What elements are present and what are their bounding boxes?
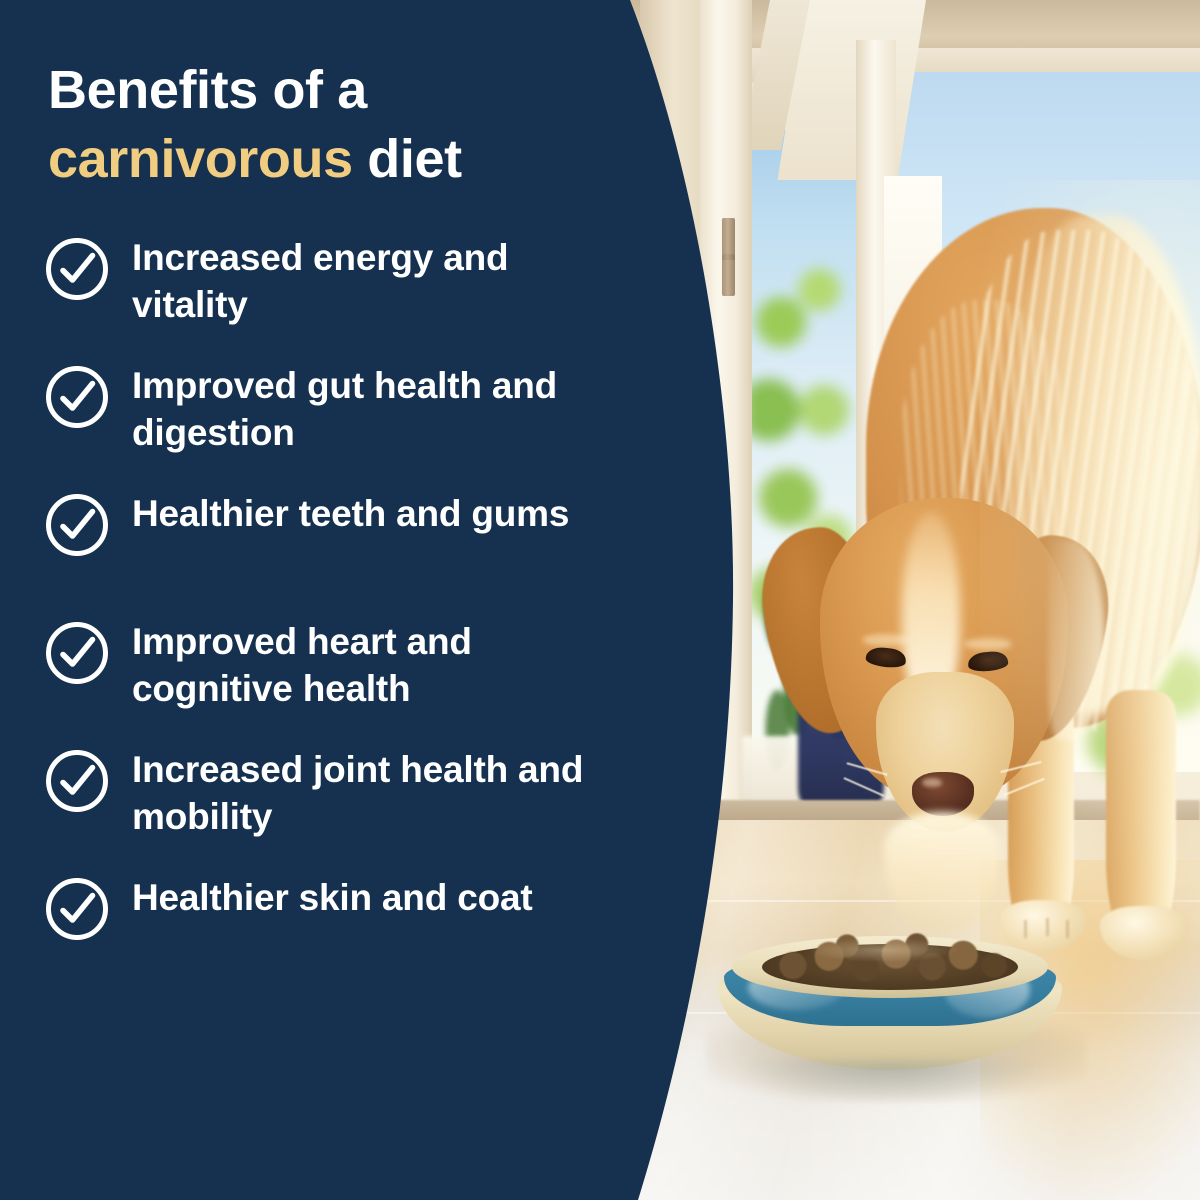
check-circle-icon <box>44 364 110 430</box>
panel-content: Benefits of a carnivorous diet Increased… <box>0 0 660 1200</box>
infographic-canvas: Benefits of a carnivorous diet Increased… <box>0 0 1200 1200</box>
list-item: Improved gut health and digestion <box>44 360 644 462</box>
check-circle-icon <box>44 236 110 302</box>
benefits-list: Increased energy and vitality Improved g… <box>44 232 644 1000</box>
title-line-2-rest: diet <box>353 129 462 189</box>
kibble-highlight <box>808 938 958 962</box>
list-item-label: Healthier skin and coat <box>132 872 532 921</box>
check-circle-icon <box>44 620 110 686</box>
list-item-label: Healthier teeth and gums <box>132 488 569 537</box>
dog-paw-toe <box>1066 920 1069 938</box>
check-circle-icon <box>44 748 110 814</box>
list-item-label: Improved gut health and digestion <box>132 360 632 457</box>
dog-paw-right <box>1100 906 1188 960</box>
page-title: Benefits of a carnivorous diet <box>48 56 628 194</box>
list-item: Healthier skin and coat <box>44 872 644 974</box>
dog-front-leg-right <box>1106 690 1176 930</box>
list-item-label: Improved heart and cognitive health <box>132 616 632 713</box>
dog-brow-right <box>964 638 1012 650</box>
title-line-1: Benefits of a <box>48 60 367 120</box>
list-item: Healthier teeth and gums <box>44 488 644 590</box>
dog-brow-left <box>862 634 910 646</box>
bowl-floor-reflection <box>740 1060 1040 1104</box>
dog-nose-highlight <box>922 778 942 787</box>
list-item-label: Increased joint health and mobility <box>132 744 632 841</box>
title-highlight-word: carnivorous <box>48 129 353 189</box>
dog-chin-chest <box>884 812 1000 932</box>
dog-food-bowl <box>718 922 1062 1070</box>
check-circle-icon <box>44 876 110 942</box>
check-circle-icon <box>44 492 110 558</box>
list-item: Increased energy and vitality <box>44 232 644 334</box>
list-item: Improved heart and cognitive health <box>44 616 644 718</box>
list-item: Increased joint health and mobility <box>44 744 644 846</box>
list-item-label: Increased energy and vitality <box>132 232 632 329</box>
